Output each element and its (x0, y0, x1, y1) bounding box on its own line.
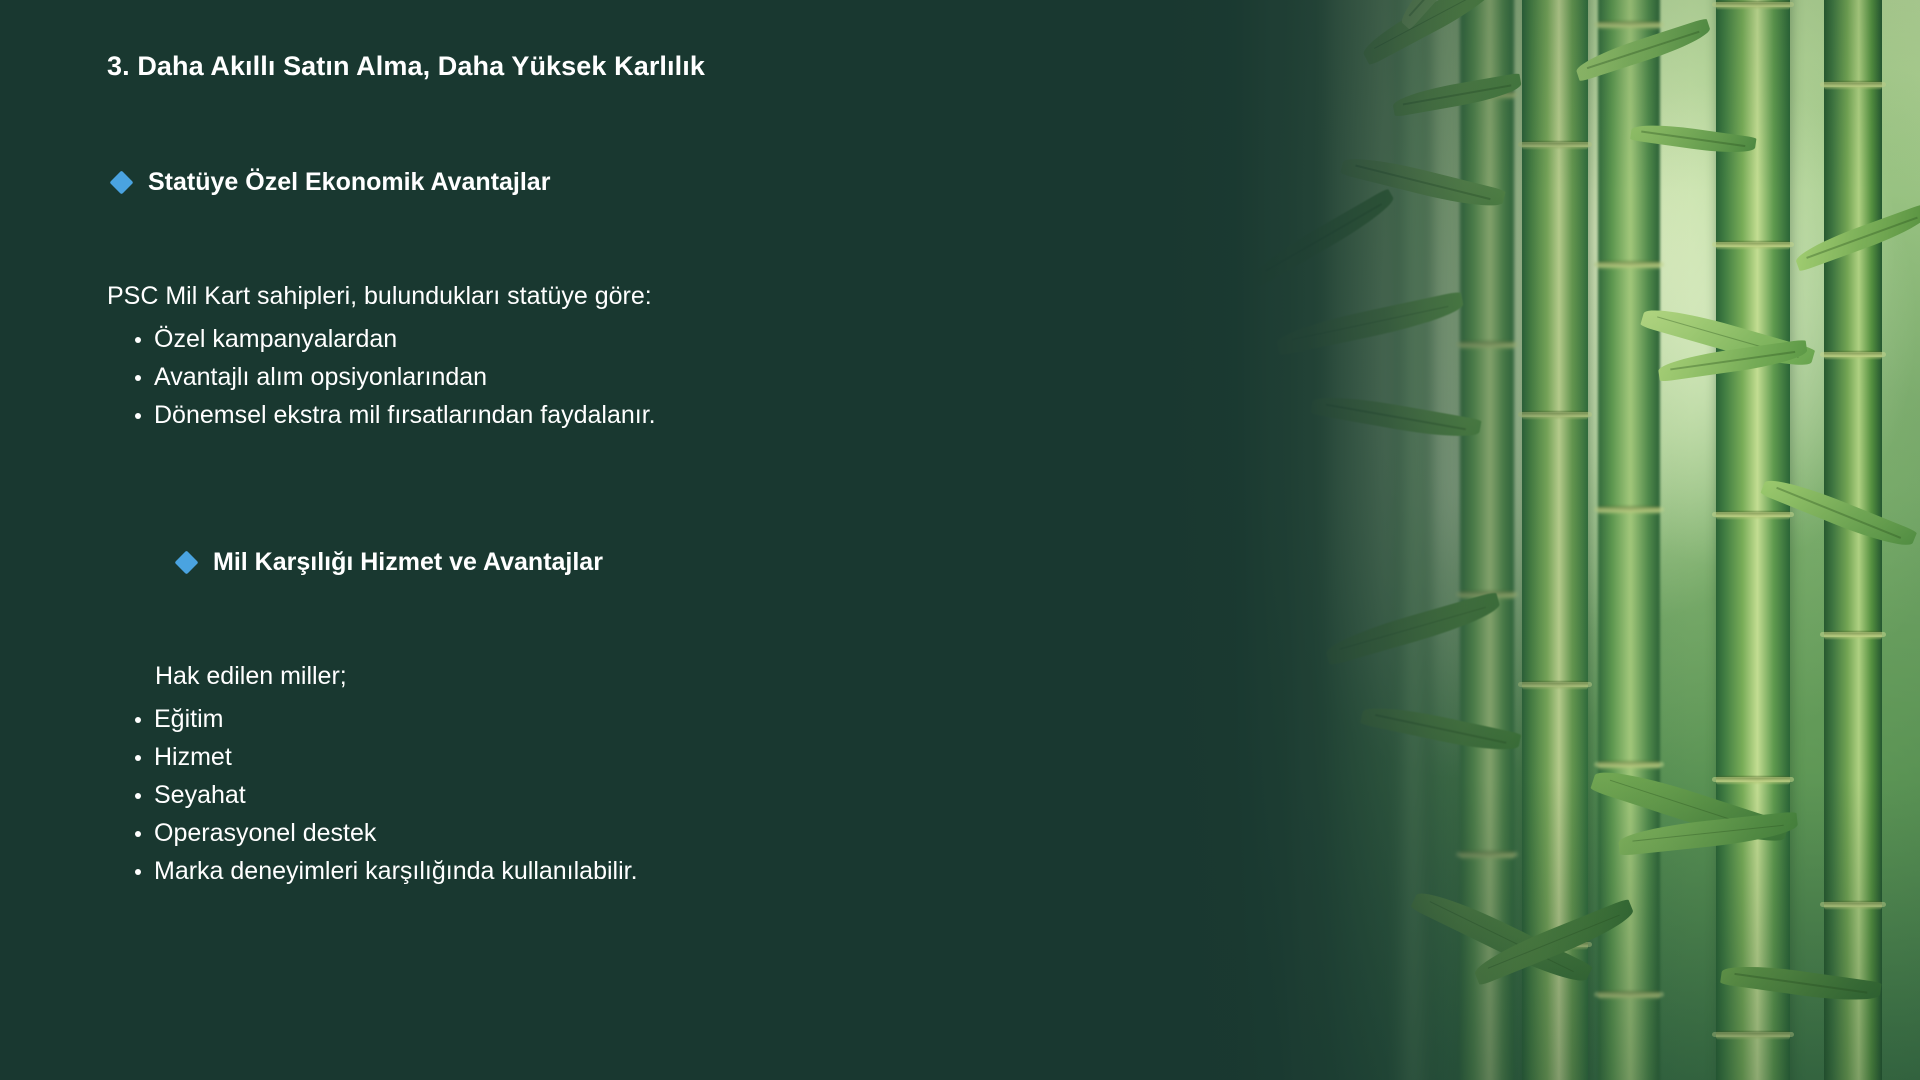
photo-left-fade (1160, 0, 1920, 1080)
section-1-lead-text: PSC Mil Kart sahipleri, bulundukları sta… (107, 282, 652, 311)
presentation-slide: 3. Daha Akıllı Satın Alma, Daha Yüksek K… (0, 0, 1920, 1080)
diamond-bullet-icon (174, 550, 198, 574)
list-item: Eğitim (107, 700, 638, 738)
section-2-lead-text: Hak edilen miller; (155, 662, 347, 691)
diamond-bullet-icon (109, 170, 133, 194)
list-item: Özel kampanyalardan (107, 320, 656, 358)
section-heading-1: Statüye Özel Ekonomik Avantajlar (113, 168, 550, 197)
section-2-bullet-list: Eğitim Hizmet Seyahat Operasyonel destek… (107, 700, 638, 890)
bamboo-forest-photo (1160, 0, 1920, 1080)
list-item: Avantajlı alım opsiyonlarından (107, 358, 656, 396)
section-heading-2: Mil Karşılığı Hizmet ve Avantajlar (178, 548, 603, 577)
slide-content: 3. Daha Akıllı Satın Alma, Daha Yüksek K… (0, 0, 1100, 1080)
list-item: Dönemsel ekstra mil fırsatlarından fayda… (107, 396, 656, 434)
page-title: 3. Daha Akıllı Satın Alma, Daha Yüksek K… (107, 51, 705, 82)
list-item: Marka deneyimleri karşılığında kullanıla… (107, 852, 638, 890)
list-item: Operasyonel destek (107, 814, 638, 852)
list-item: Seyahat (107, 776, 638, 814)
section-1-bullet-list: Özel kampanyalardan Avantajlı alım opsiy… (107, 320, 656, 434)
list-item: Hizmet (107, 738, 638, 776)
section-heading-1-label: Statüye Özel Ekonomik Avantajlar (148, 168, 550, 197)
section-heading-2-label: Mil Karşılığı Hizmet ve Avantajlar (213, 548, 603, 577)
